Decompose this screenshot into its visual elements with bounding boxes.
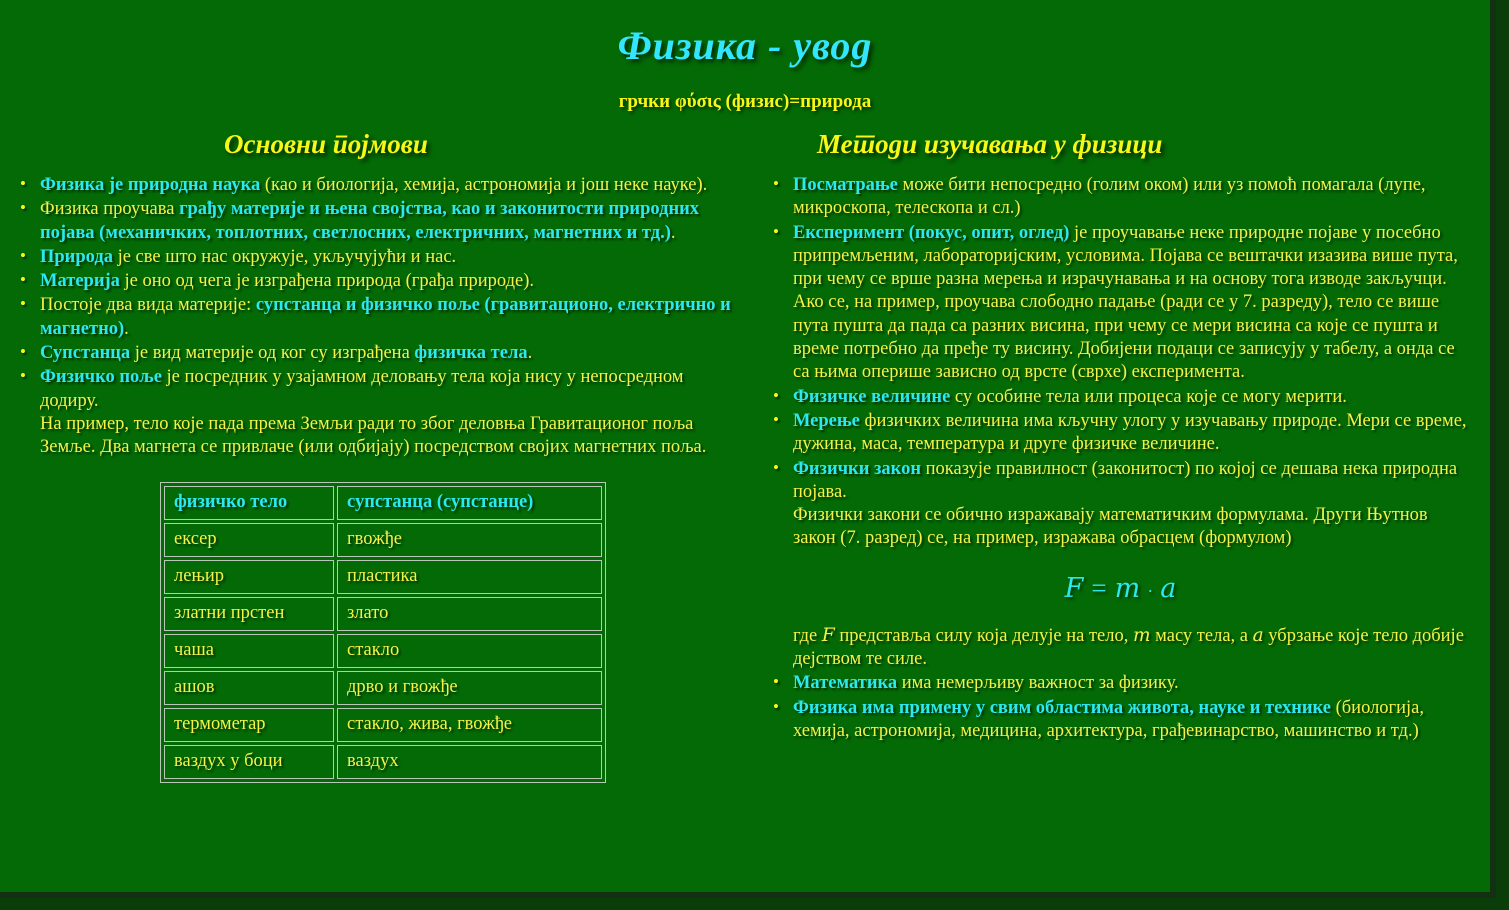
body-text: Постоје два вида материје: — [40, 295, 256, 315]
table-cell-body: ваздух у боци — [164, 745, 334, 779]
explanation-mid-2: масу тела, а — [1151, 626, 1253, 646]
table-row: чашастакло — [164, 634, 602, 668]
content-columns: Основни појмови Физика је природна наука… — [0, 113, 1490, 783]
formula-acceleration-symbol: a — [1160, 573, 1176, 604]
table-cell-substance: гвожђе — [337, 523, 602, 557]
list-item: Математика има немерљиву важност за физи… — [767, 672, 1474, 695]
table-cell-substance: пластика — [337, 560, 602, 594]
list-item: Физички закон показује правилност (закон… — [767, 458, 1474, 551]
list-item: Материја је оно од чега је изграђена при… — [14, 270, 739, 293]
explanation-mid-1: представља силу која делује на тело, — [835, 626, 1133, 646]
highlighted-term: Физика има примену у свим областима живо… — [793, 698, 1331, 718]
table-cell-substance: дрво и гвожђе — [337, 671, 602, 705]
body-text: На пример, тело које пада према Земљи ра… — [40, 414, 706, 457]
table-header-substance: супстанца (супстанце) — [337, 486, 602, 520]
list-item: Посматрање може бити непосредно (голим о… — [767, 174, 1474, 221]
table-cell-body: ексер — [164, 523, 334, 557]
table-body: ексергвожђелењирпластиказлатни прстензла… — [164, 523, 602, 779]
table-cell-body: чаша — [164, 634, 334, 668]
body-text: је све што нас окружује, укључујући и на… — [113, 247, 456, 267]
highlighted-term: Материја — [40, 271, 120, 291]
highlighted-term: Мерење — [793, 411, 860, 431]
formula-mass-symbol: m — [1115, 573, 1141, 604]
table-row: ваздух у боциваздух — [164, 745, 602, 779]
table-row: ексергвожђе — [164, 523, 602, 557]
page-title: Физика - увод — [0, 0, 1490, 69]
list-item: Постоје два вида материје: супстанца и ф… — [14, 294, 739, 341]
table-cell-substance: стакло, жива, гвожђе — [337, 708, 602, 742]
body-text: Физички закони се обично изражавају мате… — [793, 505, 1428, 548]
list-item: Експеримент (покус, опит, оглед) је проу… — [767, 222, 1474, 385]
table-header-row: физичко тело супстанца (супстанце) — [164, 486, 602, 520]
left-section-heading: Основни појмови — [14, 129, 739, 160]
explanation-mass-symbol: m — [1133, 625, 1151, 646]
highlighted-term: Физичко поље — [40, 367, 162, 387]
body-text: је вид материје од ког су изграђена — [130, 343, 414, 363]
list-item: Физика има примену у свим областима живо… — [767, 697, 1474, 744]
left-bullet-list: Физика је природна наука (као и биологиј… — [14, 174, 739, 460]
table-cell-substance: злато — [337, 597, 602, 631]
highlighted-term: Математика — [793, 673, 897, 693]
list-item: Физичко поље је посредник у узајамном де… — [14, 366, 739, 459]
body-text: има немерљиву важност за физику. — [897, 673, 1179, 693]
body-text: физичких величина има кључну улогу у изу… — [793, 411, 1467, 454]
table-cell-substance: стакло — [337, 634, 602, 668]
body-text: . — [124, 319, 129, 339]
highlighted-term: Физика је природна наука — [40, 175, 260, 195]
body-text: Физика проучава — [40, 199, 179, 219]
table-row: златни прстензлато — [164, 597, 602, 631]
table-row: термометарстакло, жива, гвожђе — [164, 708, 602, 742]
list-item: Мерење физичких величина има кључну улог… — [767, 410, 1474, 457]
body-text: је оно од чега је изграђена природа (гра… — [120, 271, 534, 291]
highlighted-term: Посматрање — [793, 175, 898, 195]
table-row: ашовдрво и гвожђе — [164, 671, 602, 705]
right-bullet-list-after-formula: Математика има немерљиву важност за физи… — [767, 672, 1474, 743]
highlighted-term: Физичке величине — [793, 387, 950, 407]
body-text: (као и биологија, хемија, астрономија и … — [260, 175, 707, 195]
table-cell-body: златни прстен — [164, 597, 334, 631]
list-item: Физичке величине су особине тела или про… — [767, 386, 1474, 409]
list-item: Физика је природна наука (као и биологиј… — [14, 174, 739, 197]
formula-dot-operator: · — [1147, 581, 1153, 601]
right-bullet-list: Посматрање може бити непосредно (голим о… — [767, 174, 1474, 551]
highlighted-term: Експеримент (покус, опит, оглед) — [793, 223, 1069, 243]
formula-equals-sign: = — [1091, 573, 1106, 603]
explanation-acceleration-symbol: a — [1253, 625, 1264, 646]
left-column: Основни појмови Физика је природна наука… — [0, 129, 757, 783]
slide-page: Физика - увод грчки φύσις (физис)=природ… — [0, 0, 1496, 898]
list-item: Природа је све што нас окружује, укључуј… — [14, 246, 739, 269]
page-subtitle: грчки φύσις (физис)=природа — [0, 69, 1490, 113]
highlighted-term: Физички закон — [793, 459, 921, 479]
explanation-prefix: где — [793, 626, 822, 646]
table-row: лењирпластика — [164, 560, 602, 594]
table-cell-body: термометар — [164, 708, 334, 742]
explanation-force-symbol: F — [822, 625, 835, 646]
table-cell-substance: ваздух — [337, 745, 602, 779]
formula-force-symbol: F — [1065, 573, 1084, 604]
table-header-body: физичко тело — [164, 486, 334, 520]
body-text: Ако се, на пример, проучава слободно пад… — [793, 292, 1455, 382]
body-text: су особине тела или процеса које се могу… — [950, 387, 1347, 407]
highlighted-term: Природа — [40, 247, 113, 267]
right-column: Методи изучавања у физици Посматрање мож… — [757, 129, 1490, 783]
list-item: Физика проучава грађу материје и њена св… — [14, 198, 739, 245]
substances-table: физичко тело супстанца (супстанце) ексер… — [160, 482, 606, 783]
table-cell-body: лењир — [164, 560, 334, 594]
newton-second-law-formula: F=m·a — [767, 573, 1474, 604]
right-section-heading: Методи изучавања у физици — [767, 129, 1474, 160]
highlighted-term: Супстанца — [40, 343, 130, 363]
body-text: . — [671, 223, 676, 243]
table-cell-body: ашов — [164, 671, 334, 705]
list-item: Супстанца је вид материје од ког су изгр… — [14, 342, 739, 365]
highlighted-term: физичка тела — [414, 343, 527, 363]
formula-explanation: где F представља силу која делује на тел… — [767, 624, 1474, 672]
body-text: . — [528, 343, 533, 363]
